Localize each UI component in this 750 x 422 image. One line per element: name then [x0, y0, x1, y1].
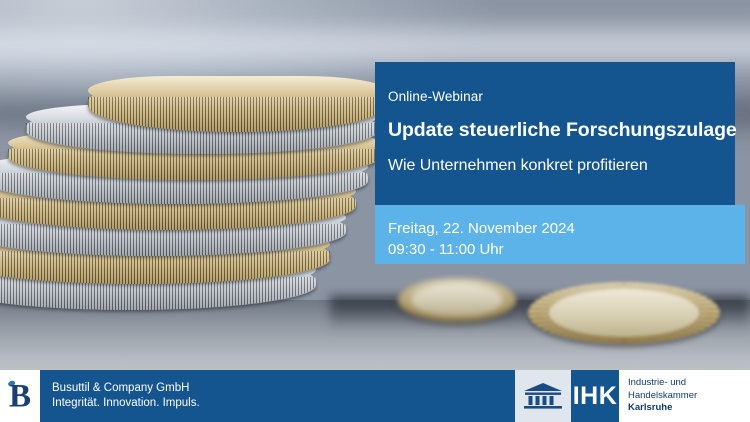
busuttil-logo-letter: B [9, 381, 31, 414]
ihk-letters: IHK [571, 370, 619, 422]
footer-spacer [200, 370, 515, 422]
event-title: Update steuerliche Forschungszulage [388, 119, 737, 142]
ihk-name-line-1: Industrie- und Handelskammer [628, 377, 750, 402]
ihk-logo: IHK Industrie- und Handelskammer Karlsru… [515, 370, 750, 422]
busuttil-wordmark: Busuttil & Company GmbH Integrität. Inno… [40, 370, 200, 422]
flat-coin-front [528, 282, 720, 344]
coin-stack-top [88, 76, 386, 132]
event-date: Freitag, 22. November 2024 [388, 220, 575, 237]
footer-bar: B Busuttil & Company GmbH Integrität. In… [0, 370, 750, 422]
ihk-wordmark: Industrie- und Handelskammer Karlsruhe [619, 370, 750, 422]
event-type-label: Online-Webinar [388, 89, 483, 104]
busuttil-logo: B [0, 370, 40, 422]
ihk-building-icon [515, 370, 571, 422]
event-time: 09:30 - 11:00 Uhr [388, 241, 504, 258]
company-claim: Integrität. Innovation. Impuls. [52, 396, 200, 411]
event-subtitle: Wie Unternehmen konkret profitieren [388, 157, 648, 175]
flat-coin-back [398, 278, 516, 322]
ihk-name-line-2: Karlsruhe [628, 402, 750, 415]
webinar-announcement-slide: Online-Webinar Update steuerliche Forsch… [0, 0, 750, 422]
company-name: Busuttil & Company GmbH [52, 381, 200, 396]
coin-stack [0, 38, 384, 338]
